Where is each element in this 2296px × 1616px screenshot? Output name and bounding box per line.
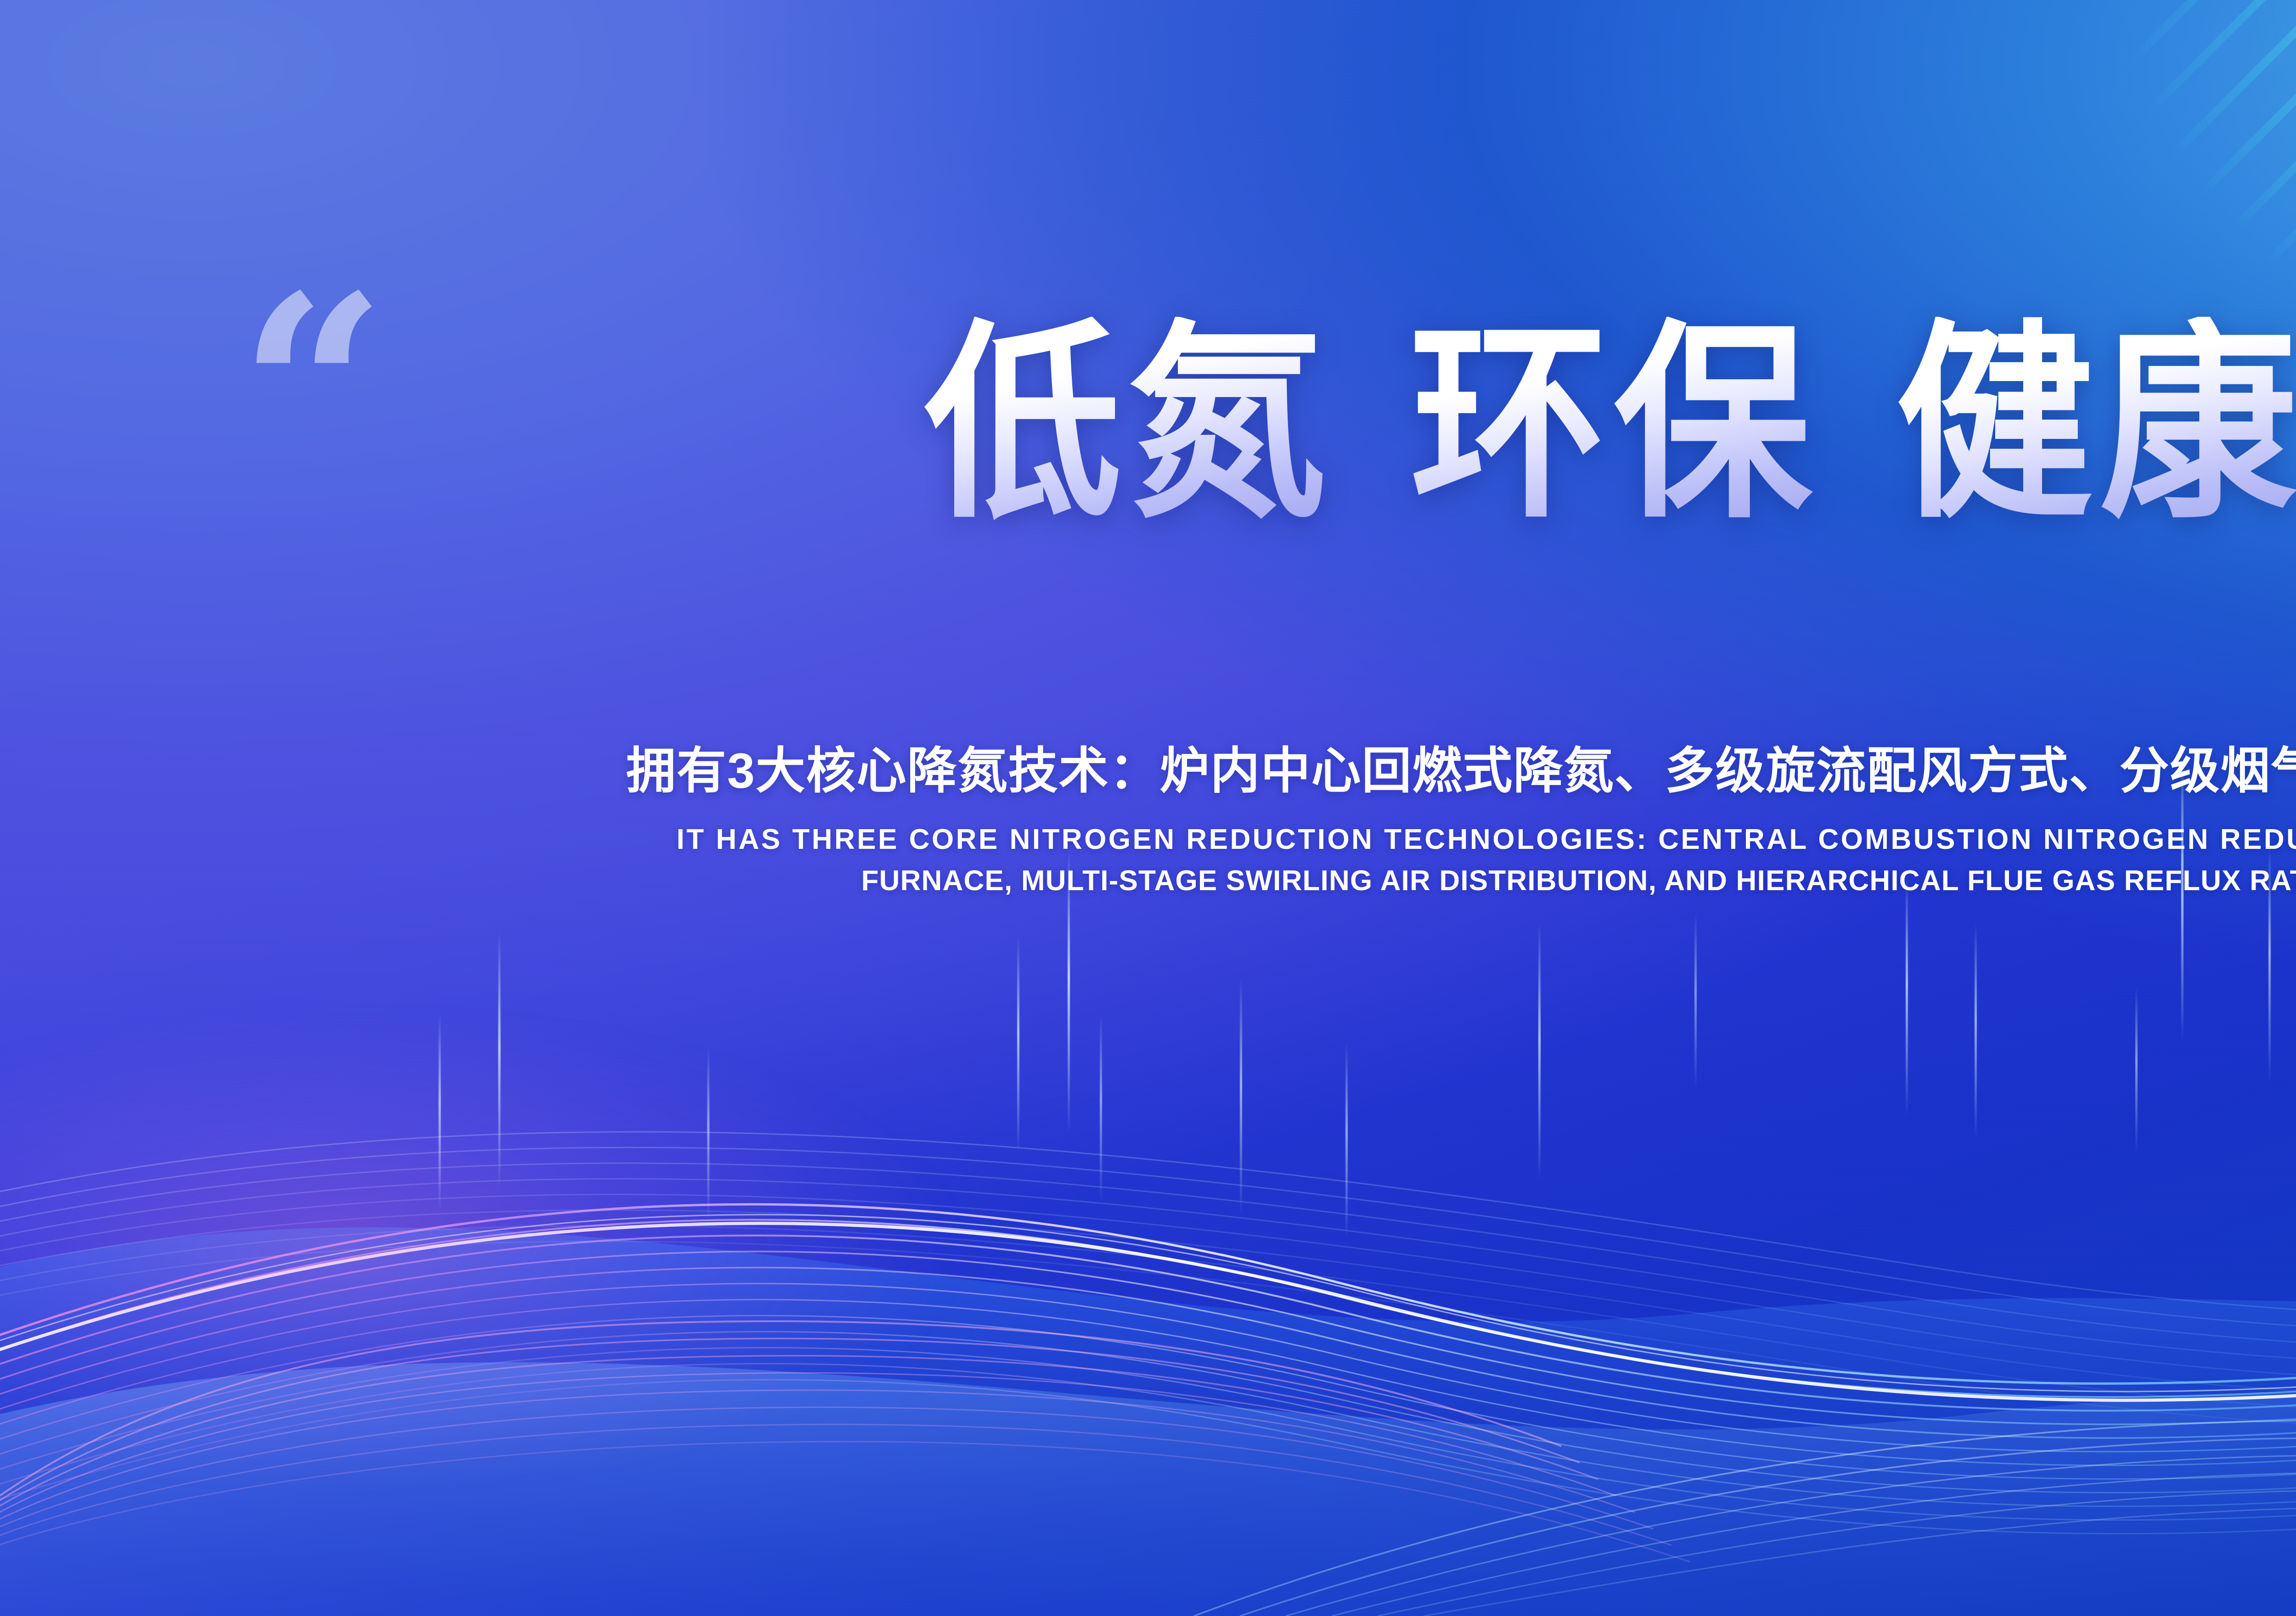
subtitle-english-line2: FURNACE, MULTI-STAGE SWIRLING AIR DISTRI… — [110, 860, 2296, 902]
wave-artwork — [0, 918, 2296, 1616]
pink-glow-decoration — [0, 996, 1010, 1501]
hero-word-environmental: 环保 — [1410, 317, 1818, 532]
subtitle-english-line1: IT HAS THREE CORE NITROGEN REDUCTION TEC… — [110, 819, 2296, 860]
poster-canvas: 科技-共赢 SCIENCE AND TECHNOLOGY AND WIN-WIN… — [0, 0, 2296, 1616]
light-beams-decoration — [0, 927, 2296, 1616]
hero-word-health: 健康 — [1896, 317, 2296, 532]
subtitle-english: IT HAS THREE CORE NITROGEN REDUCTION TEC… — [110, 819, 2296, 902]
opening-quote-mark: “ — [239, 262, 387, 519]
copy-block: 拥有3大核心降氮技术：炉内中心回燃式降氮、多级旋流配风方式、分级烟气回流配比。 … — [0, 741, 2296, 902]
subtitle-chinese: 拥有3大核心降氮技术：炉内中心回燃式降氮、多级旋流配风方式、分级烟气回流配比。 — [110, 741, 2296, 800]
hero-word-low-nitrogen: 低氮 — [924, 317, 1332, 532]
